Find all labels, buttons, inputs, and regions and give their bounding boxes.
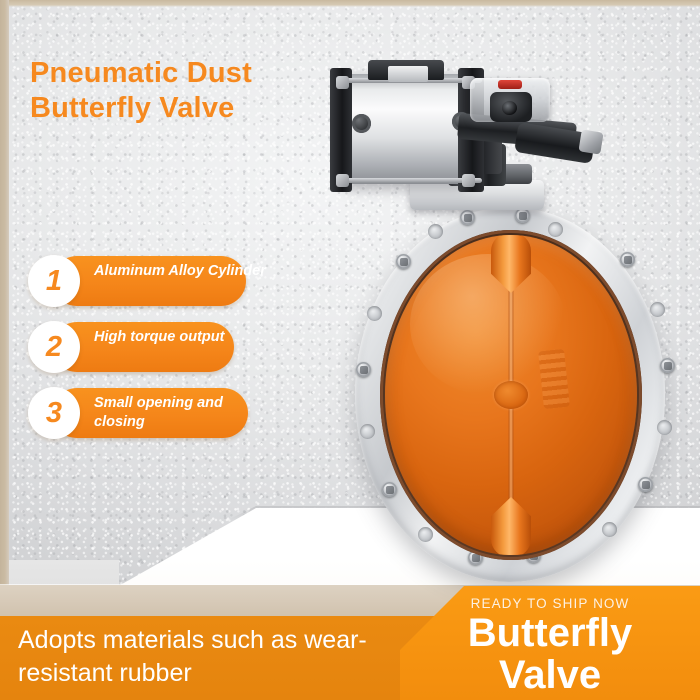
flange-bolt — [660, 358, 675, 373]
valve-disc — [385, 235, 637, 555]
flange-notch — [428, 224, 443, 239]
bottom-left-text: Adopts materials such as wear-resistant … — [18, 624, 448, 690]
flange-notch — [602, 522, 617, 537]
limit-switch-body — [490, 92, 532, 122]
disc-center-hub — [494, 381, 528, 409]
flange-notch — [360, 424, 375, 439]
cylinder-tie-rod — [336, 178, 482, 183]
headline-line-1: Pneumatic Dust — [30, 56, 360, 91]
disc-lower-boss — [491, 497, 531, 555]
flange-bolt — [396, 254, 411, 269]
bottom-right-title: Butterfly Valve — [400, 612, 700, 696]
flange-notch — [548, 222, 563, 237]
flange-notch — [650, 302, 665, 317]
flange-notch — [418, 527, 433, 542]
product-valve-assembly — [330, 52, 690, 522]
feature-badge-3[interactable]: 3 Small opening and closing — [28, 388, 278, 438]
feature-number-3: 3 — [28, 387, 80, 439]
feature-label-3: Small opening and closing — [94, 394, 266, 432]
flange-bolt — [382, 482, 397, 497]
flange-bolt — [460, 210, 475, 225]
feature-list: 1 Aluminum Alloy Cylinder 2 High torque … — [28, 256, 278, 454]
flange-bolt — [620, 252, 635, 267]
flange-notch — [367, 306, 382, 321]
headline-line-2: Butterfly Valve — [30, 91, 360, 126]
flange-bolt — [515, 208, 530, 223]
poster-canvas: Pneumatic Dust Butterfly Valve 1 Aluminu… — [0, 0, 700, 700]
feature-badge-1[interactable]: 1 Aluminum Alloy Cylinder — [28, 256, 278, 306]
top-edge-strip — [0, 0, 700, 7]
flange-notch — [657, 420, 672, 435]
flange-bolt — [356, 362, 371, 377]
tie-rod-nut — [462, 174, 475, 187]
feature-number-2: 2 — [28, 321, 80, 373]
page-title: Pneumatic Dust Butterfly Valve — [30, 56, 360, 127]
feature-label-1: Aluminum Alloy Cylinder — [94, 262, 266, 281]
ready-to-ship-eyebrow: READY TO SHIP NOW — [400, 596, 700, 611]
tie-rod-nut — [336, 174, 349, 187]
bottom-right-title-line-2: Valve — [400, 654, 700, 696]
flange-bolt — [638, 477, 653, 492]
linkage-end-nut — [578, 129, 603, 154]
bottom-right-title-line-1: Butterfly — [400, 612, 700, 654]
cylinder-top-plate — [388, 66, 428, 82]
limit-switch-indicator — [498, 80, 522, 89]
disc-embossed-marking — [538, 349, 570, 409]
feature-label-2: High torque output — [94, 328, 266, 347]
left-edge-strip — [0, 0, 9, 616]
feature-number-1: 1 — [28, 255, 80, 307]
feature-badge-2[interactable]: 2 High torque output — [28, 322, 278, 372]
